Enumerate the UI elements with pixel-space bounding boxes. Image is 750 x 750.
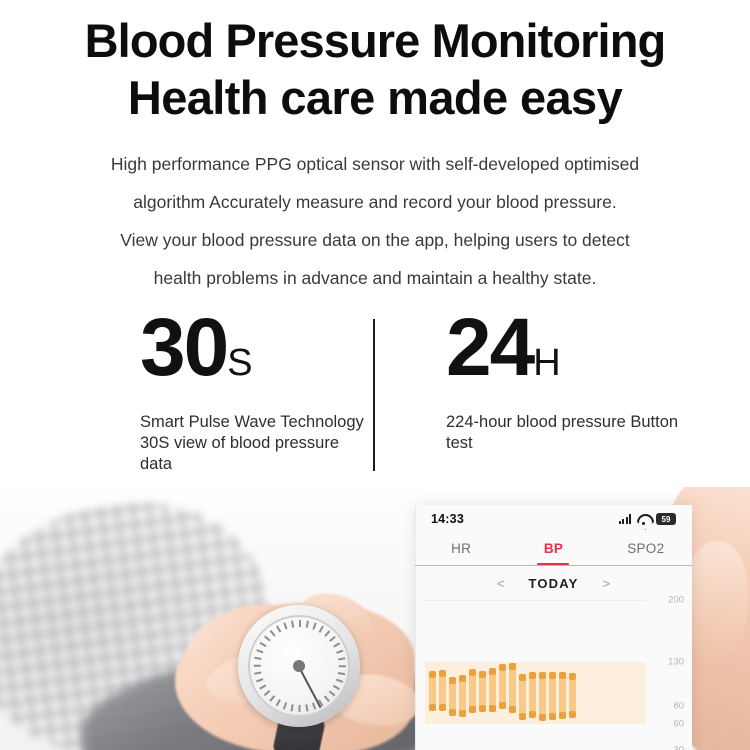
bar-systolic-cap — [509, 663, 516, 670]
headline-line-2: Health care made easy — [0, 69, 750, 126]
bar-diastolic-cap — [459, 710, 466, 717]
chart-y-tick-label: 200 — [668, 595, 684, 606]
bar-diastolic-cap — [439, 704, 446, 711]
bar-systolic-cap — [479, 671, 486, 678]
chart-bar[interactable] — [489, 668, 496, 712]
stat-unit: H — [533, 342, 560, 384]
bar-diastolic-cap — [499, 702, 506, 709]
bar-systolic-cap — [569, 673, 576, 680]
stat-number: 24 — [446, 302, 533, 393]
chart-bar[interactable] — [509, 663, 516, 713]
chart-bar[interactable] — [439, 670, 446, 711]
chart-bar[interactable] — [549, 672, 556, 720]
chart-bar[interactable] — [449, 677, 456, 716]
chart-bar[interactable] — [569, 673, 576, 718]
chart-bar[interactable] — [559, 672, 566, 719]
chart-bar[interactable] — [469, 669, 476, 713]
description-line-2: algorithm Accurately measure and record … — [0, 183, 750, 221]
chart-bar[interactable] — [479, 671, 486, 712]
bar-systolic-cap — [439, 670, 446, 677]
tab-spo2[interactable]: SPO2 — [600, 533, 692, 565]
bar-diastolic-cap — [489, 705, 496, 712]
chart-bar[interactable] — [499, 664, 506, 708]
stat-unit: S — [227, 342, 252, 384]
bar-systolic-cap — [449, 677, 456, 684]
chart-y-tick-label: 80 — [673, 700, 684, 711]
bar-systolic-cap — [519, 674, 526, 681]
bar-systolic-cap — [429, 671, 436, 678]
bar-diastolic-cap — [479, 705, 486, 712]
bar-systolic-cap — [549, 672, 556, 679]
bar-systolic-cap — [459, 675, 466, 682]
blood-pressure-chart[interactable]: 200130806030 — [415, 600, 692, 750]
bar-diastolic-cap — [529, 711, 536, 718]
bar-diastolic-cap — [559, 712, 566, 719]
stat-number: 30 — [140, 302, 227, 393]
description-line-1: High performance PPG optical sensor with… — [0, 145, 750, 183]
stat-value-24: 24H — [446, 305, 696, 406]
bar-diastolic-cap — [469, 706, 476, 713]
bar-diastolic-cap — [549, 713, 556, 720]
bar-diastolic-cap — [539, 714, 546, 721]
tab-hr[interactable]: HR — [415, 533, 507, 565]
headline-line-1: Blood Pressure Monitoring — [0, 12, 750, 69]
wifi-icon — [637, 514, 650, 524]
stat-card-30s: 30S Smart Pulse Wave Technology 30S view… — [140, 305, 370, 475]
description-block: High performance PPG optical sensor with… — [0, 145, 750, 297]
description-line-4: health problems in advance and maintain … — [0, 259, 750, 297]
bar-diastolic-cap — [509, 706, 516, 713]
metric-tabs: HR BP SPO2 — [415, 533, 692, 565]
prev-day-button[interactable]: < — [497, 576, 505, 591]
status-bar-icons: 59 — [619, 513, 677, 525]
day-navigator: < TODAY > — [415, 566, 692, 600]
chart-bar[interactable] — [529, 672, 536, 718]
stats-row: 30S Smart Pulse Wave Technology 30S view… — [0, 305, 750, 485]
bar-diastolic-cap — [449, 709, 456, 716]
page-title: Blood Pressure Monitoring Health care ma… — [0, 12, 750, 126]
description-line-3: View your blood pressure data on the app… — [0, 221, 750, 259]
stat-card-24h: 24H 224-hour blood pressure Button test — [446, 305, 696, 454]
bar-diastolic-cap — [429, 704, 436, 711]
chart-y-tick-label: 60 — [673, 718, 684, 729]
stat-caption-24h: 224-hour blood pressure Button test — [446, 412, 696, 454]
chart-bars — [429, 600, 576, 750]
bar-systolic-cap — [529, 672, 536, 679]
chart-y-tick-label: 30 — [673, 745, 684, 750]
phone-app-screenshot: 14:33 59 HR BP SPO2 < TODAY > 2001308060… — [415, 505, 692, 750]
bar-diastolic-cap — [519, 713, 526, 720]
bar-systolic-cap — [539, 672, 546, 679]
stat-value-30: 30S — [140, 305, 370, 406]
chart-bar[interactable] — [539, 672, 546, 721]
bar-diastolic-cap — [569, 711, 576, 718]
bar-systolic-cap — [499, 664, 506, 671]
next-day-button[interactable]: > — [603, 576, 611, 591]
stats-divider — [373, 319, 375, 471]
tab-bp[interactable]: BP — [507, 533, 599, 565]
status-bar: 14:33 59 — [415, 505, 692, 533]
cellular-signal-icon — [619, 514, 632, 524]
bar-systolic-cap — [559, 672, 566, 679]
status-bar-clock: 14:33 — [431, 512, 464, 526]
stat-caption-30s: Smart Pulse Wave Technology 30S view of … — [140, 412, 370, 475]
battery-icon: 59 — [656, 513, 676, 525]
chart-bar[interactable] — [429, 671, 436, 712]
bar-systolic-cap — [489, 668, 496, 675]
bar-systolic-cap — [469, 669, 476, 676]
gauge-hub — [293, 660, 305, 672]
promo-page: Blood Pressure Monitoring Health care ma… — [0, 0, 750, 750]
chart-y-tick-label: 130 — [668, 656, 684, 667]
chart-bar[interactable] — [519, 674, 526, 720]
chart-bar[interactable] — [459, 675, 466, 717]
current-day-label: TODAY — [528, 576, 578, 591]
